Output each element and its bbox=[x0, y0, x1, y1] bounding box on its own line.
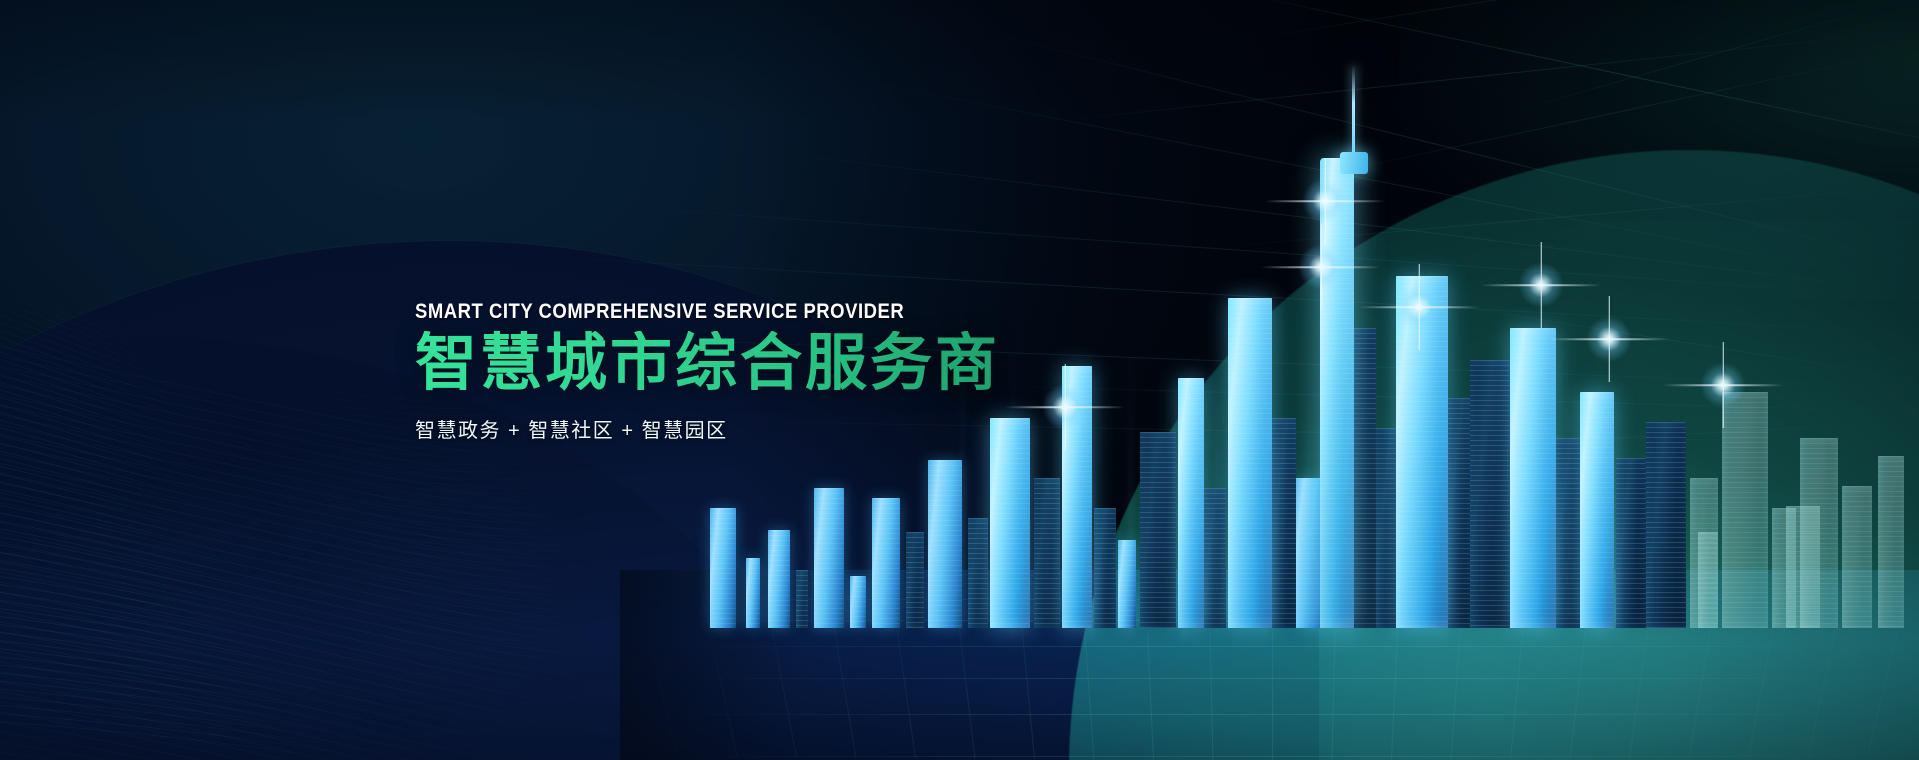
eyebrow-text: SMART CITY COMPREHENSIVE SERVICE PROVIDE… bbox=[415, 300, 1084, 323]
building bbox=[1396, 276, 1448, 628]
subtitle-text: 智慧政务 + 智慧社区 + 智慧园区 bbox=[415, 414, 1175, 443]
building bbox=[1556, 438, 1580, 628]
green-glow-top-right bbox=[1399, 0, 1919, 300]
building bbox=[1878, 456, 1904, 628]
building bbox=[1580, 392, 1614, 628]
page-title: 智慧城市综合服务商 bbox=[415, 331, 1175, 398]
building bbox=[1118, 540, 1136, 628]
building bbox=[1510, 328, 1556, 628]
tower-spire bbox=[1352, 66, 1355, 158]
building bbox=[1178, 378, 1204, 628]
building bbox=[1722, 392, 1768, 628]
building bbox=[906, 532, 924, 628]
building bbox=[1470, 360, 1510, 628]
building bbox=[928, 460, 962, 628]
tower-crown bbox=[1340, 152, 1368, 174]
building bbox=[1800, 438, 1838, 628]
building bbox=[1094, 508, 1116, 628]
building bbox=[768, 530, 790, 628]
building bbox=[1204, 488, 1226, 628]
building bbox=[872, 498, 900, 628]
building bbox=[1228, 298, 1272, 628]
building bbox=[1448, 398, 1470, 628]
building bbox=[968, 518, 988, 628]
building bbox=[1140, 432, 1176, 628]
building bbox=[1646, 422, 1686, 628]
building bbox=[746, 558, 760, 628]
building bbox=[1320, 158, 1354, 628]
building bbox=[1842, 486, 1872, 628]
building bbox=[1272, 418, 1296, 628]
building bbox=[710, 508, 736, 628]
building bbox=[1616, 458, 1646, 628]
building bbox=[814, 488, 844, 628]
building bbox=[850, 576, 866, 628]
building bbox=[796, 570, 808, 628]
building bbox=[990, 418, 1030, 628]
building bbox=[1690, 478, 1718, 628]
smart-city-hero-banner: SMART CITY COMPREHENSIVE SERVICE PROVIDE… bbox=[0, 0, 1919, 760]
hero-copy-block: SMART CITY COMPREHENSIVE SERVICE PROVIDE… bbox=[415, 300, 1175, 443]
building bbox=[1034, 478, 1060, 628]
